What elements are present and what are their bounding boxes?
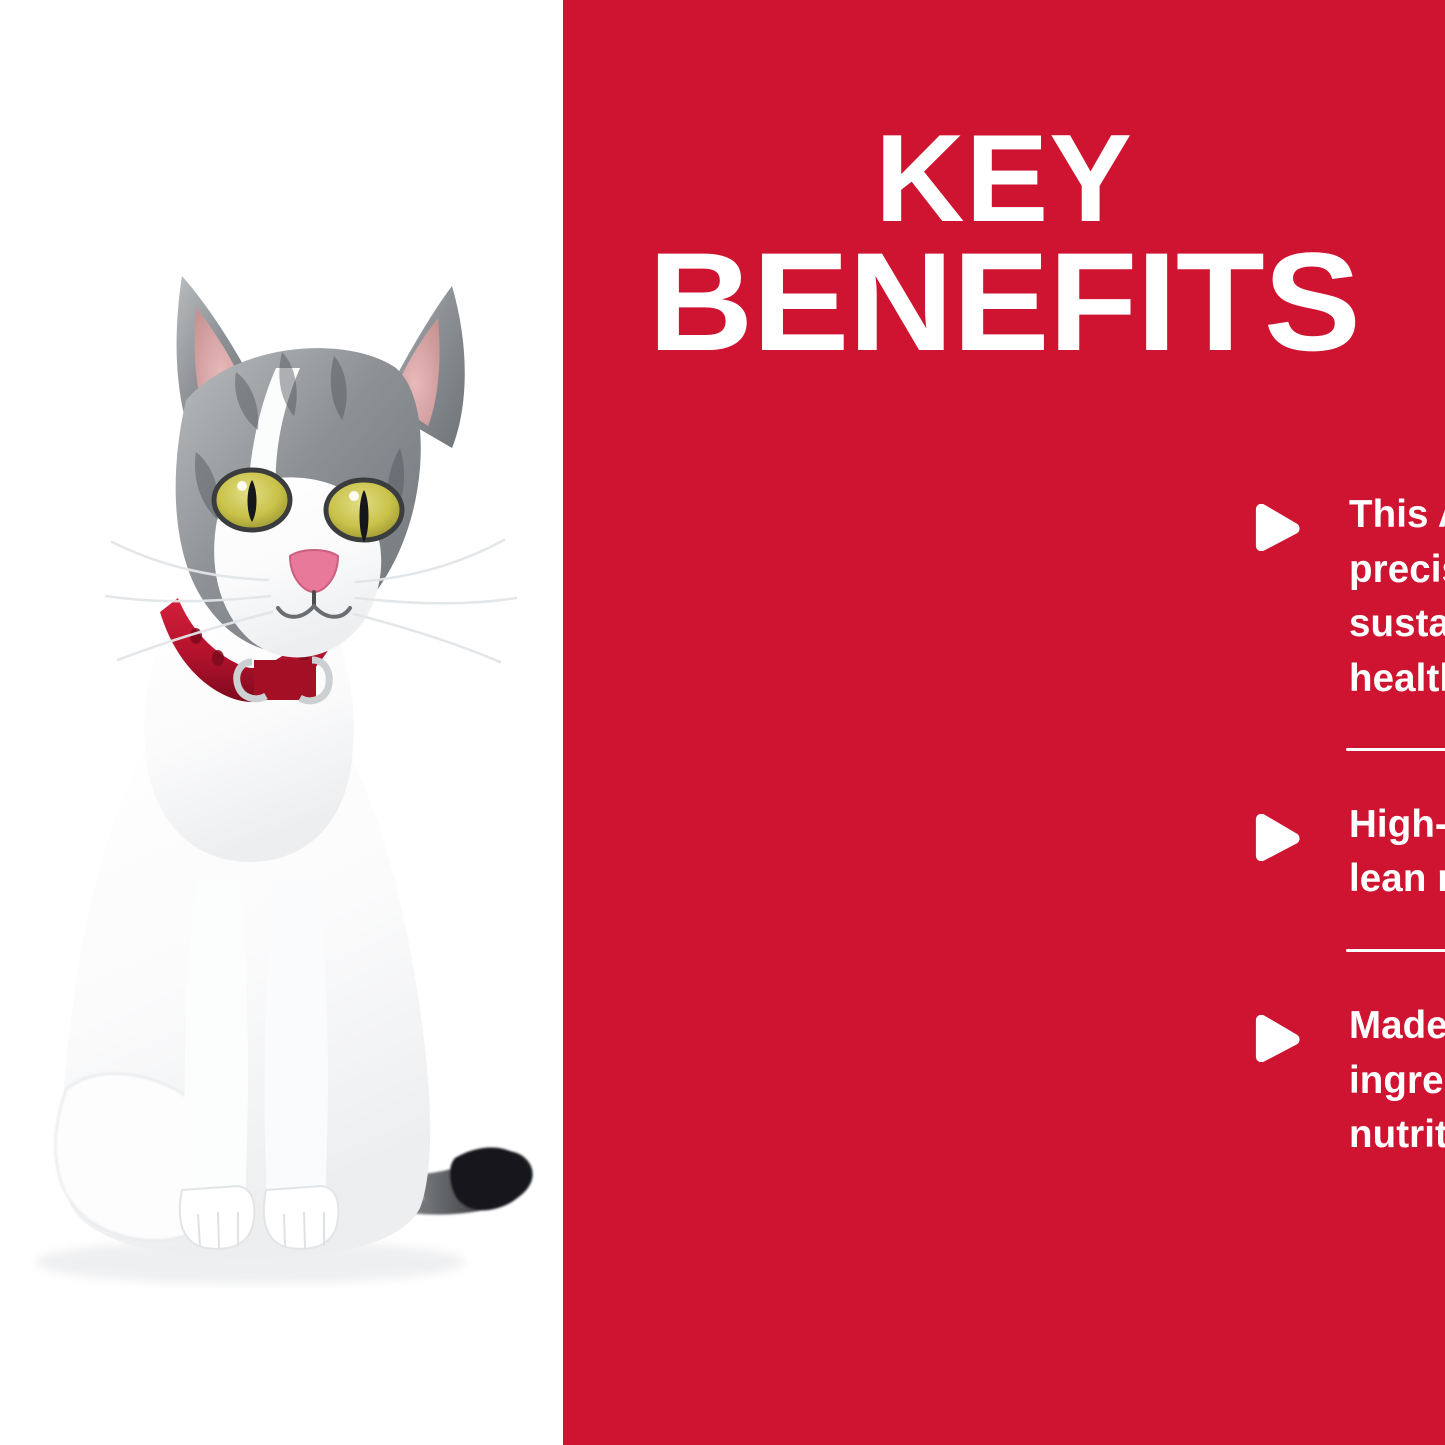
benefits-list: This Adult 7+ cat food has precisely bal… — [1251, 488, 1445, 1163]
benefit-item-3: Made with purposeful ingredients for a f… — [1251, 999, 1445, 1163]
benefit-item-2: High-quality protein for building lean m… — [1251, 798, 1445, 907]
play-triangle-icon — [1251, 488, 1349, 551]
key-benefits-heading: KEY BENEFITS — [563, 122, 1445, 368]
heading-line-key: KEY — [563, 122, 1445, 237]
benefit-text-3: Made with purposeful ingredients for a f… — [1349, 999, 1445, 1163]
benefit-text-2: High-quality protein for building lean m… — [1349, 798, 1445, 907]
heading-line-benefits: BENEFITS — [563, 237, 1445, 367]
play-triangle-icon — [1251, 999, 1349, 1062]
cat-eye-right — [326, 480, 402, 542]
cat-photo — [0, 0, 563, 1445]
key-benefits-panel: KEY BENEFITS This Adult 7+ cat food has … — [563, 0, 1445, 1445]
cat-photo-panel — [0, 0, 563, 1445]
key-benefits-product-banner: KEY BENEFITS This Adult 7+ cat food has … — [0, 0, 1445, 1445]
cat-eye-left — [214, 470, 290, 530]
play-triangle-icon — [1251, 798, 1349, 861]
benefit-item-1: This Adult 7+ cat food has precisely bal… — [1251, 488, 1445, 707]
benefit-text-1: This Adult 7+ cat food has precisely bal… — [1349, 488, 1445, 707]
